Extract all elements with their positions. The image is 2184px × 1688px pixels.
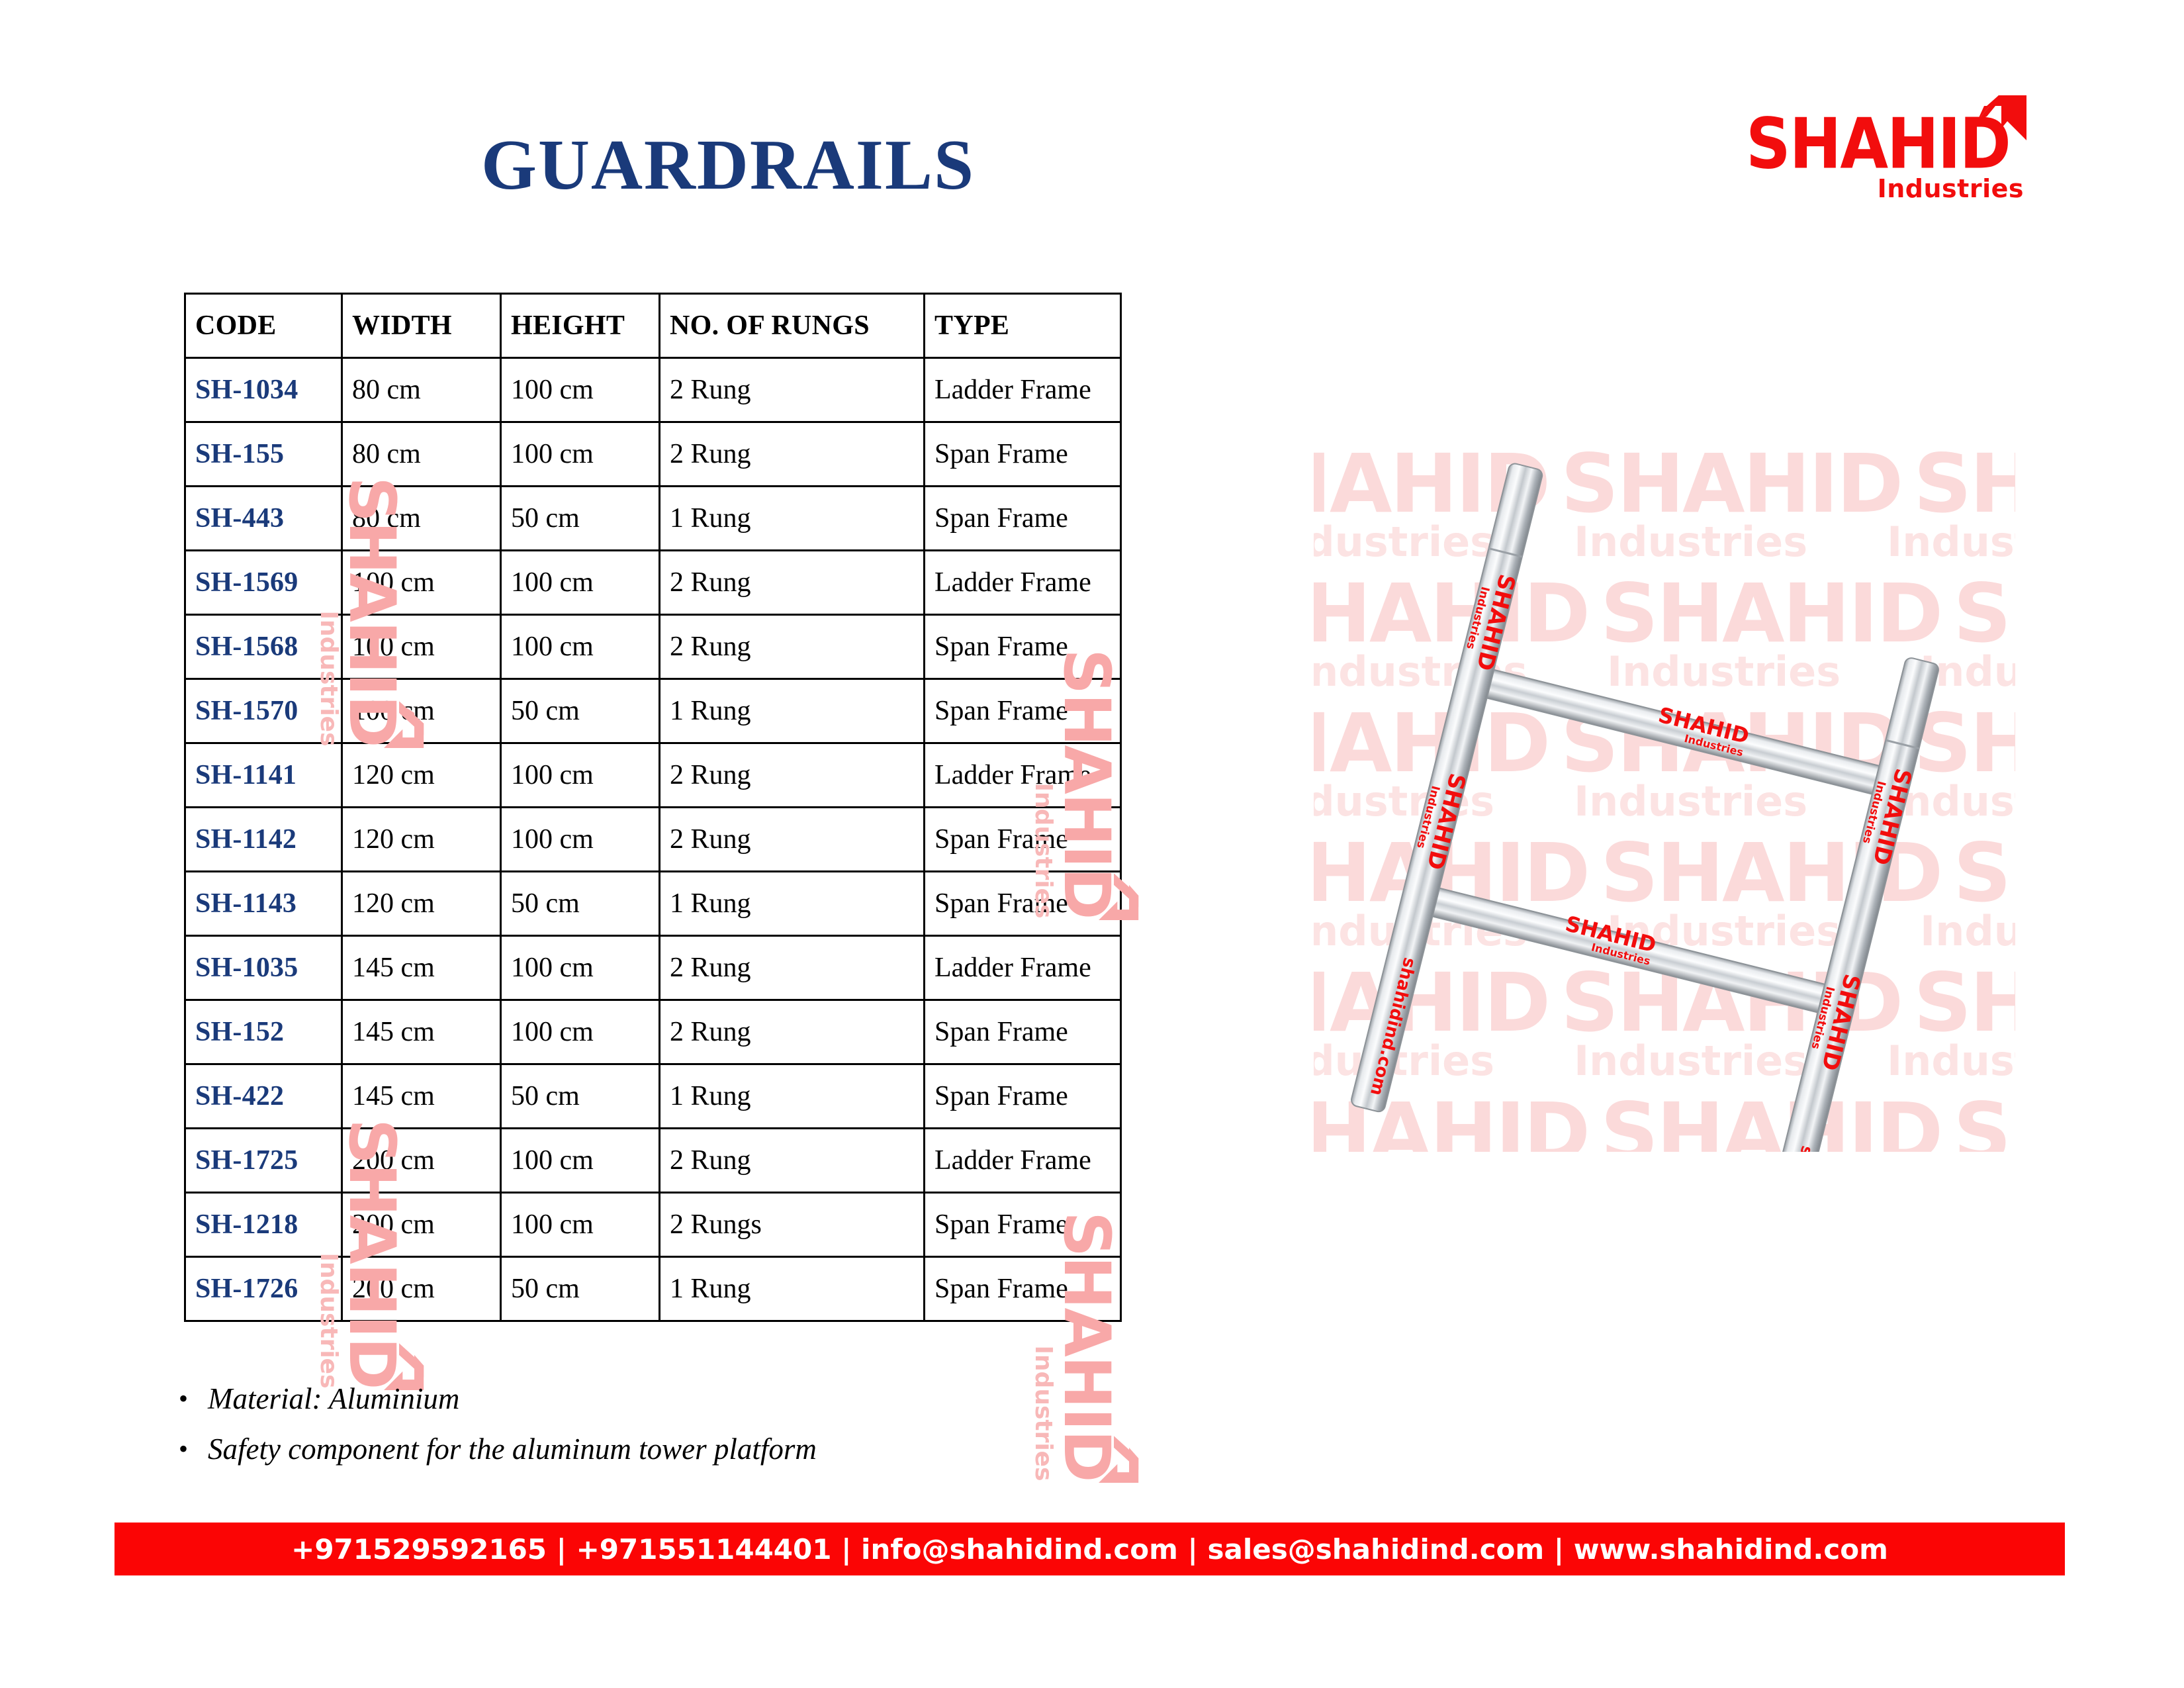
cell-type: Span Frame <box>925 808 1121 872</box>
cell-type: Span Frame <box>925 679 1121 743</box>
cell-code: SH-1569 <box>185 551 342 615</box>
cell-type: Ladder Frame <box>925 743 1121 808</box>
cell-width: 100 cm <box>342 551 501 615</box>
cell-type: Span Frame <box>925 872 1121 936</box>
cell-width: 120 cm <box>342 872 501 936</box>
cell-width: 80 cm <box>342 487 501 551</box>
list-item: • Material: Aluminium <box>179 1378 1171 1419</box>
company-logo: SHAHID Industries <box>1746 86 2024 212</box>
cell-rungs: 2 Rung <box>660 615 925 679</box>
logo-subtitle: Industries <box>1878 176 2024 201</box>
cell-height: 100 cm <box>501 1193 660 1257</box>
cell-width: 80 cm <box>342 358 501 422</box>
cell-type: Ladder Frame <box>925 358 1121 422</box>
cell-height: 100 cm <box>501 358 660 422</box>
notes-list: • Material: Aluminium • Safety component… <box>179 1378 1171 1479</box>
specification-table: CODE WIDTH HEIGHT NO. OF RUNGS TYPE SH-1… <box>184 293 1122 1322</box>
cell-rungs: 2 Rung <box>660 743 925 808</box>
cell-code: SH-1570 <box>185 679 342 743</box>
list-item: • Safety component for the aluminum towe… <box>179 1429 1171 1470</box>
cell-rungs: 1 Rung <box>660 679 925 743</box>
cell-type: Span Frame <box>925 615 1121 679</box>
cell-code: SH-1034 <box>185 358 342 422</box>
cell-type: Span Frame <box>925 1064 1121 1129</box>
cell-width: 100 cm <box>342 615 501 679</box>
cell-width: 145 cm <box>342 936 501 1000</box>
cell-height: 50 cm <box>501 1257 660 1321</box>
bullet-icon: • <box>179 1378 208 1419</box>
table-row: SH-1569100 cm100 cm2 RungLadder Frame <box>185 551 1121 615</box>
cell-code: SH-155 <box>185 422 342 487</box>
cell-code: SH-1218 <box>185 1193 342 1257</box>
specification-table-wrapper: CODE WIDTH HEIGHT NO. OF RUNGS TYPE SH-1… <box>184 293 1120 1322</box>
contact-footer-text: +971529592165 | +971551144401 | info@sha… <box>114 1523 2065 1575</box>
note-text: Safety component for the aluminum tower … <box>208 1429 817 1470</box>
product-image: SHAHIDSHAHIDSHAHIDIndustriesIndustriesIn… <box>1314 450 2015 1152</box>
column-header-type: TYPE <box>925 294 1121 358</box>
cell-height: 100 cm <box>501 422 660 487</box>
cell-height: 100 cm <box>501 615 660 679</box>
table-row: SH-1570100 cm50 cm1 RungSpan Frame <box>185 679 1121 743</box>
cell-rungs: 1 Rung <box>660 872 925 936</box>
column-header-rungs: NO. OF RUNGS <box>660 294 925 358</box>
cell-type: Span Frame <box>925 1257 1121 1321</box>
column-header-code: CODE <box>185 294 342 358</box>
column-header-height: HEIGHT <box>501 294 660 358</box>
cell-rungs: 2 Rung <box>660 1129 925 1193</box>
guardrail-illustration: SHAHID Industries SHAHID Industries SHAH… <box>1314 450 2015 1152</box>
cell-height: 50 cm <box>501 1064 660 1129</box>
table-row: SH-1143120 cm50 cm1 RungSpan Frame <box>185 872 1121 936</box>
cell-type: Ladder Frame <box>925 551 1121 615</box>
cell-type: Span Frame <box>925 422 1121 487</box>
cell-code: SH-152 <box>185 1000 342 1064</box>
table-body: SH-103480 cm100 cm2 RungLadder FrameSH-1… <box>185 358 1121 1321</box>
cell-rungs: 2 Rungs <box>660 1193 925 1257</box>
cell-rungs: 2 Rung <box>660 551 925 615</box>
page-title: GUARDRAILS <box>0 130 1456 201</box>
cell-rungs: 2 Rung <box>660 1000 925 1064</box>
cell-type: Span Frame <box>925 1193 1121 1257</box>
cell-rungs: 2 Rung <box>660 936 925 1000</box>
cell-height: 100 cm <box>501 551 660 615</box>
table-row: SH-1035145 cm100 cm2 RungLadder Frame <box>185 936 1121 1000</box>
table-row: SH-1726200 cm50 cm1 RungSpan Frame <box>185 1257 1121 1321</box>
cell-width: 80 cm <box>342 422 501 487</box>
table-row: SH-1568100 cm100 cm2 RungSpan Frame <box>185 615 1121 679</box>
cell-type: Ladder Frame <box>925 936 1121 1000</box>
cell-width: 200 cm <box>342 1193 501 1257</box>
cell-height: 100 cm <box>501 808 660 872</box>
cell-code: SH-422 <box>185 1064 342 1129</box>
cell-width: 200 cm <box>342 1129 501 1193</box>
table-row: SH-1141120 cm100 cm2 RungLadder Frame <box>185 743 1121 808</box>
column-header-width: WIDTH <box>342 294 501 358</box>
cell-width: 100 cm <box>342 679 501 743</box>
cell-width: 145 cm <box>342 1064 501 1129</box>
cell-width: 200 cm <box>342 1257 501 1321</box>
cell-height: 50 cm <box>501 487 660 551</box>
document-page: GUARDRAILS SHAHID Industries SHAHIDSHAHI… <box>0 0 2184 1688</box>
cell-rungs: 2 Rung <box>660 422 925 487</box>
cell-type: Span Frame <box>925 1000 1121 1064</box>
cell-height: 100 cm <box>501 1000 660 1064</box>
cell-type: Span Frame <box>925 487 1121 551</box>
cell-code: SH-1725 <box>185 1129 342 1193</box>
cell-height: 50 cm <box>501 679 660 743</box>
cell-rungs: 1 Rung <box>660 1257 925 1321</box>
cell-code: SH-1141 <box>185 743 342 808</box>
table-row: SH-44380 cm50 cm1 RungSpan Frame <box>185 487 1121 551</box>
cell-width: 120 cm <box>342 808 501 872</box>
table-header-row: CODE WIDTH HEIGHT NO. OF RUNGS TYPE <box>185 294 1121 358</box>
logo-arrow-icon <box>1958 86 2026 148</box>
table-row: SH-1725200 cm100 cm2 RungLadder Frame <box>185 1129 1121 1193</box>
cell-height: 100 cm <box>501 936 660 1000</box>
table-row: SH-422145 cm50 cm1 RungSpan Frame <box>185 1064 1121 1129</box>
contact-footer-bar: +971529592165 | +971551144401 | info@sha… <box>114 1523 2065 1575</box>
cell-code: SH-1035 <box>185 936 342 1000</box>
cell-height: 100 cm <box>501 743 660 808</box>
table-row: SH-1142120 cm100 cm2 RungSpan Frame <box>185 808 1121 872</box>
cell-code: SH-1143 <box>185 872 342 936</box>
cell-code: SH-443 <box>185 487 342 551</box>
cell-code: SH-1142 <box>185 808 342 872</box>
note-text: Material: Aluminium <box>208 1378 459 1419</box>
cell-height: 50 cm <box>501 872 660 936</box>
cell-code: SH-1726 <box>185 1257 342 1321</box>
cell-height: 100 cm <box>501 1129 660 1193</box>
bullet-icon: • <box>179 1429 208 1470</box>
cell-code: SH-1568 <box>185 615 342 679</box>
table-row: SH-103480 cm100 cm2 RungLadder Frame <box>185 358 1121 422</box>
cell-width: 145 cm <box>342 1000 501 1064</box>
table-row: SH-15580 cm100 cm2 RungSpan Frame <box>185 422 1121 487</box>
cell-rungs: 1 Rung <box>660 487 925 551</box>
cell-width: 120 cm <box>342 743 501 808</box>
table-row: SH-152145 cm100 cm2 RungSpan Frame <box>185 1000 1121 1064</box>
table-row: SH-1218200 cm100 cm2 RungsSpan Frame <box>185 1193 1121 1257</box>
cell-type: Ladder Frame <box>925 1129 1121 1193</box>
cell-rungs: 2 Rung <box>660 358 925 422</box>
cell-rungs: 1 Rung <box>660 1064 925 1129</box>
cell-rungs: 2 Rung <box>660 808 925 872</box>
